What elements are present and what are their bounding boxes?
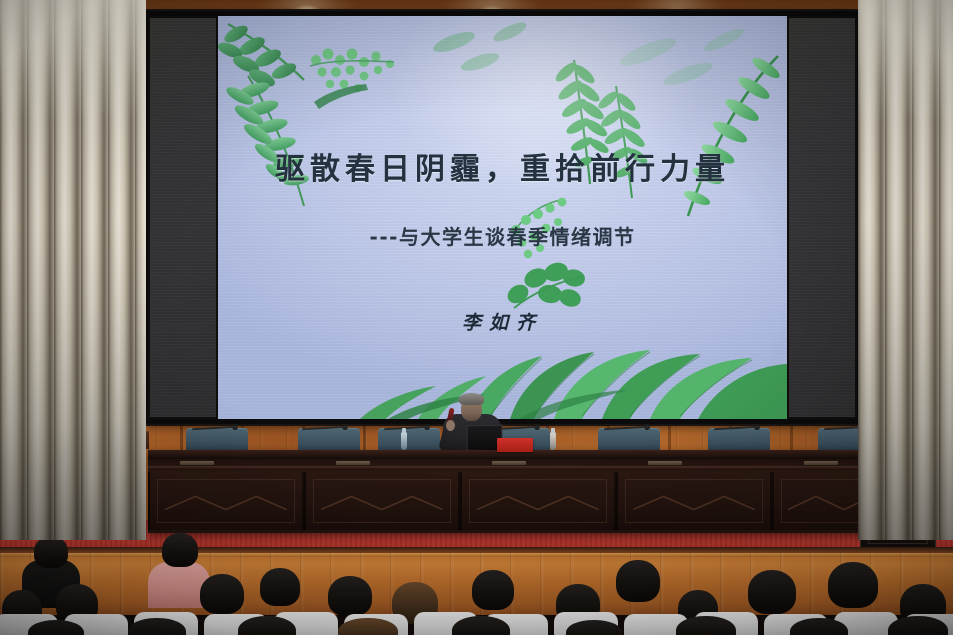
head-table <box>148 450 916 533</box>
audience-head <box>260 568 300 606</box>
panel-texture <box>150 18 216 417</box>
audience-head <box>616 560 660 602</box>
water-bottle <box>550 432 556 450</box>
stage-curtain-right <box>858 0 953 540</box>
table-nameplate-slot <box>492 461 526 465</box>
audience-head <box>472 570 514 610</box>
audience-head <box>200 574 244 614</box>
slide-author: 李如齐 <box>218 308 787 335</box>
table-panel <box>460 472 616 530</box>
stage-curtain-left <box>0 0 146 540</box>
table-panel <box>148 472 304 530</box>
gooseneck-microphone <box>604 424 650 433</box>
table-nameplate-slot <box>180 461 214 465</box>
audience-head <box>328 576 372 616</box>
slide-title: 驱散春日阴霾，重拾前行力量 <box>218 144 787 188</box>
slide-subtitle: ---与大学生谈春季情绪调节 <box>218 221 787 250</box>
table-nameplate-slot <box>336 461 370 465</box>
curtain-shading <box>858 0 953 540</box>
speaker-hand <box>446 420 455 431</box>
table-rail <box>148 466 916 470</box>
audience-head <box>748 570 796 614</box>
table-panel <box>304 472 460 530</box>
panel-texture <box>789 18 855 417</box>
curtain-shading <box>0 0 146 540</box>
acoustic-panel-left <box>148 16 218 419</box>
gooseneck-microphone <box>714 424 760 433</box>
speaker-nameplate <box>497 438 533 452</box>
audience-head <box>828 562 878 608</box>
acoustic-panel-right <box>787 16 857 419</box>
gooseneck-microphone <box>384 424 430 433</box>
gooseneck-microphone <box>302 424 348 433</box>
table-nameplate-slot <box>804 461 838 465</box>
table-nameplate-slot <box>648 461 682 465</box>
table-panel <box>616 472 772 530</box>
audience-seating <box>0 560 953 635</box>
gooseneck-microphone <box>192 424 238 433</box>
water-bottle <box>401 432 407 450</box>
speaker-hair <box>459 393 484 405</box>
auditorium-photo: 驱散春日阴霾，重拾前行力量 ---与大学生谈春季情绪调节 李如齐 <box>0 0 953 635</box>
projection-screen: 驱散春日阴霾，重拾前行力量 ---与大学生谈春季情绪调节 李如齐 <box>218 16 787 419</box>
